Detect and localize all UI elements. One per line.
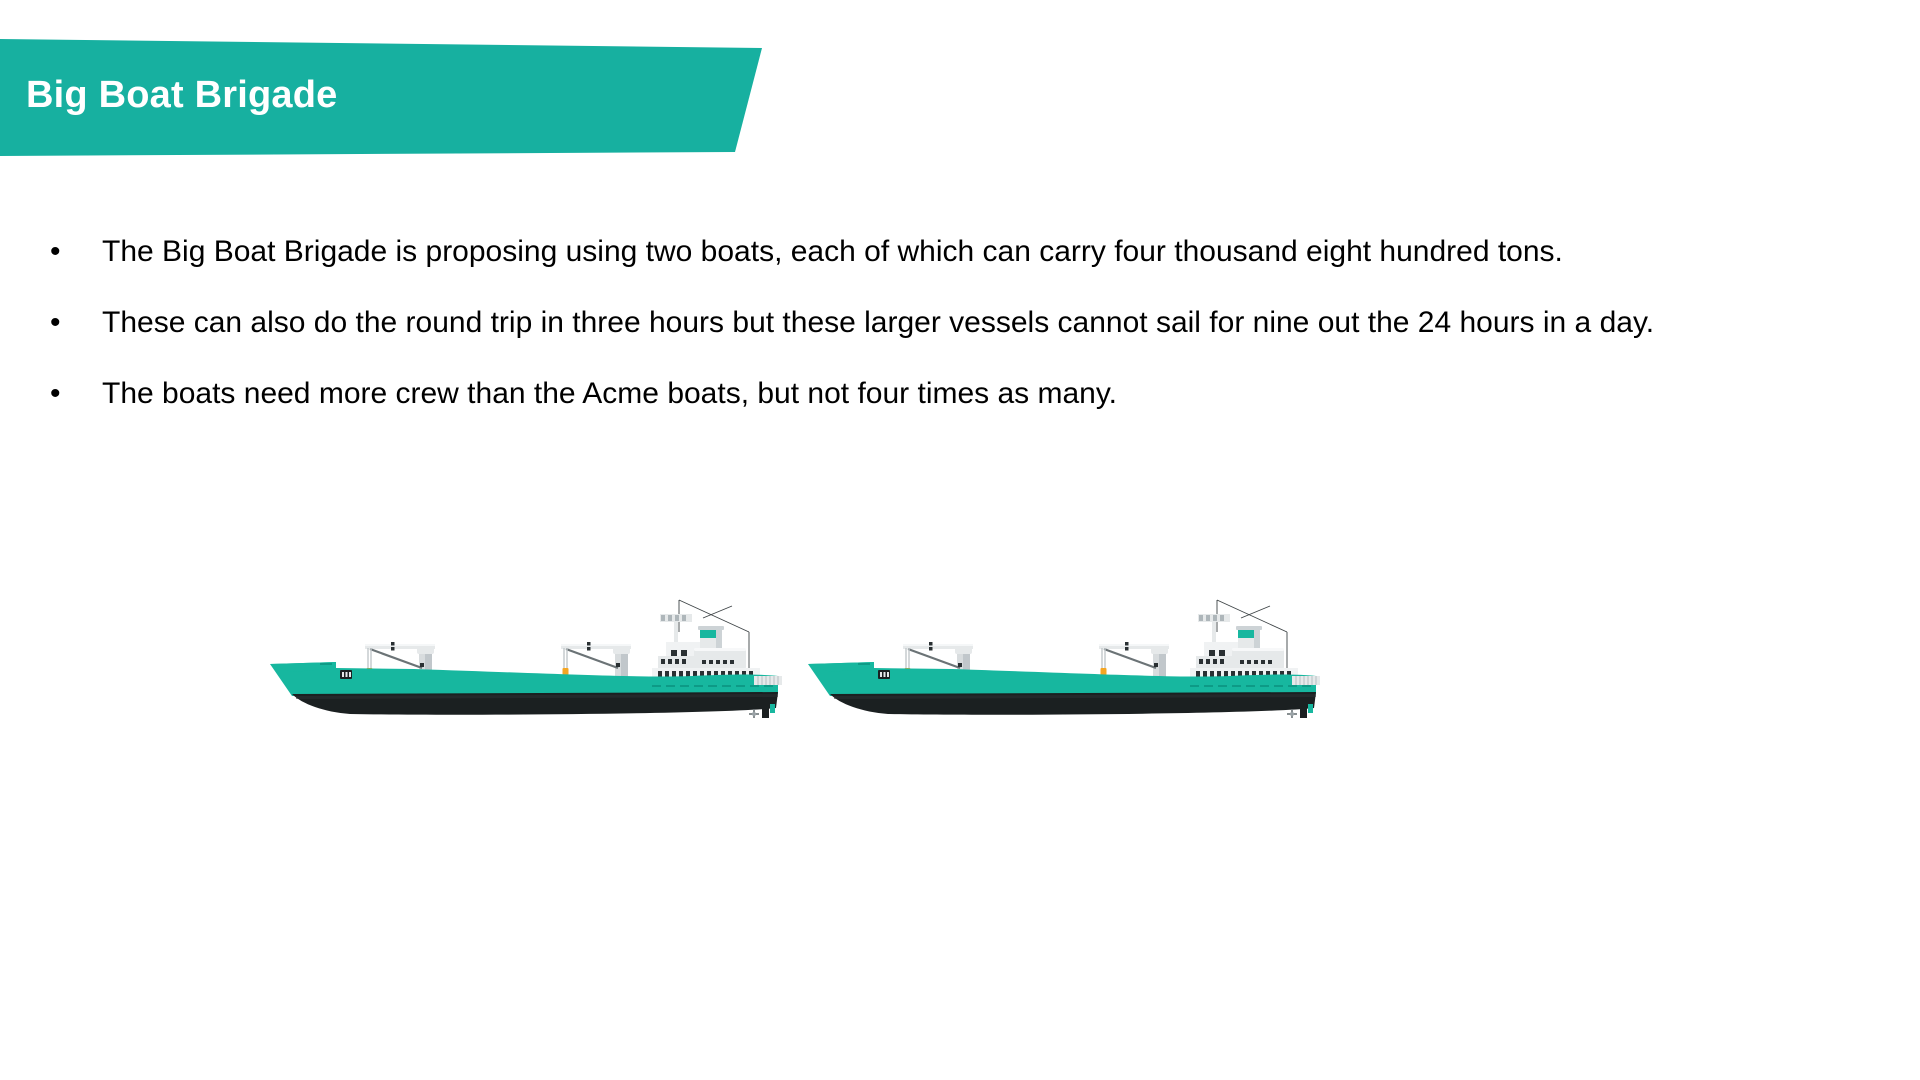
title-banner: Big Boat Brigade — [0, 0, 800, 180]
bullet-marker-icon: • — [42, 370, 102, 417]
bullet-list: • The Big Boat Brigade is proposing usin… — [42, 228, 1772, 441]
bullet-text: These can also do the round trip in thre… — [102, 299, 1772, 346]
cargo-ship-illustration-2 — [800, 590, 1360, 720]
bullet-marker-icon: • — [42, 228, 102, 275]
list-item: • The boats need more crew than the Acme… — [42, 370, 1772, 417]
bullet-marker-icon: • — [42, 299, 102, 346]
list-item: • The Big Boat Brigade is proposing usin… — [42, 228, 1772, 275]
page-title: Big Boat Brigade — [26, 76, 337, 114]
cargo-ship-illustration-1 — [262, 590, 822, 720]
list-item: • These can also do the round trip in th… — [42, 299, 1772, 346]
bullet-text: The boats need more crew than the Acme b… — [102, 370, 1772, 417]
bullet-text: The Big Boat Brigade is proposing using … — [102, 228, 1772, 275]
